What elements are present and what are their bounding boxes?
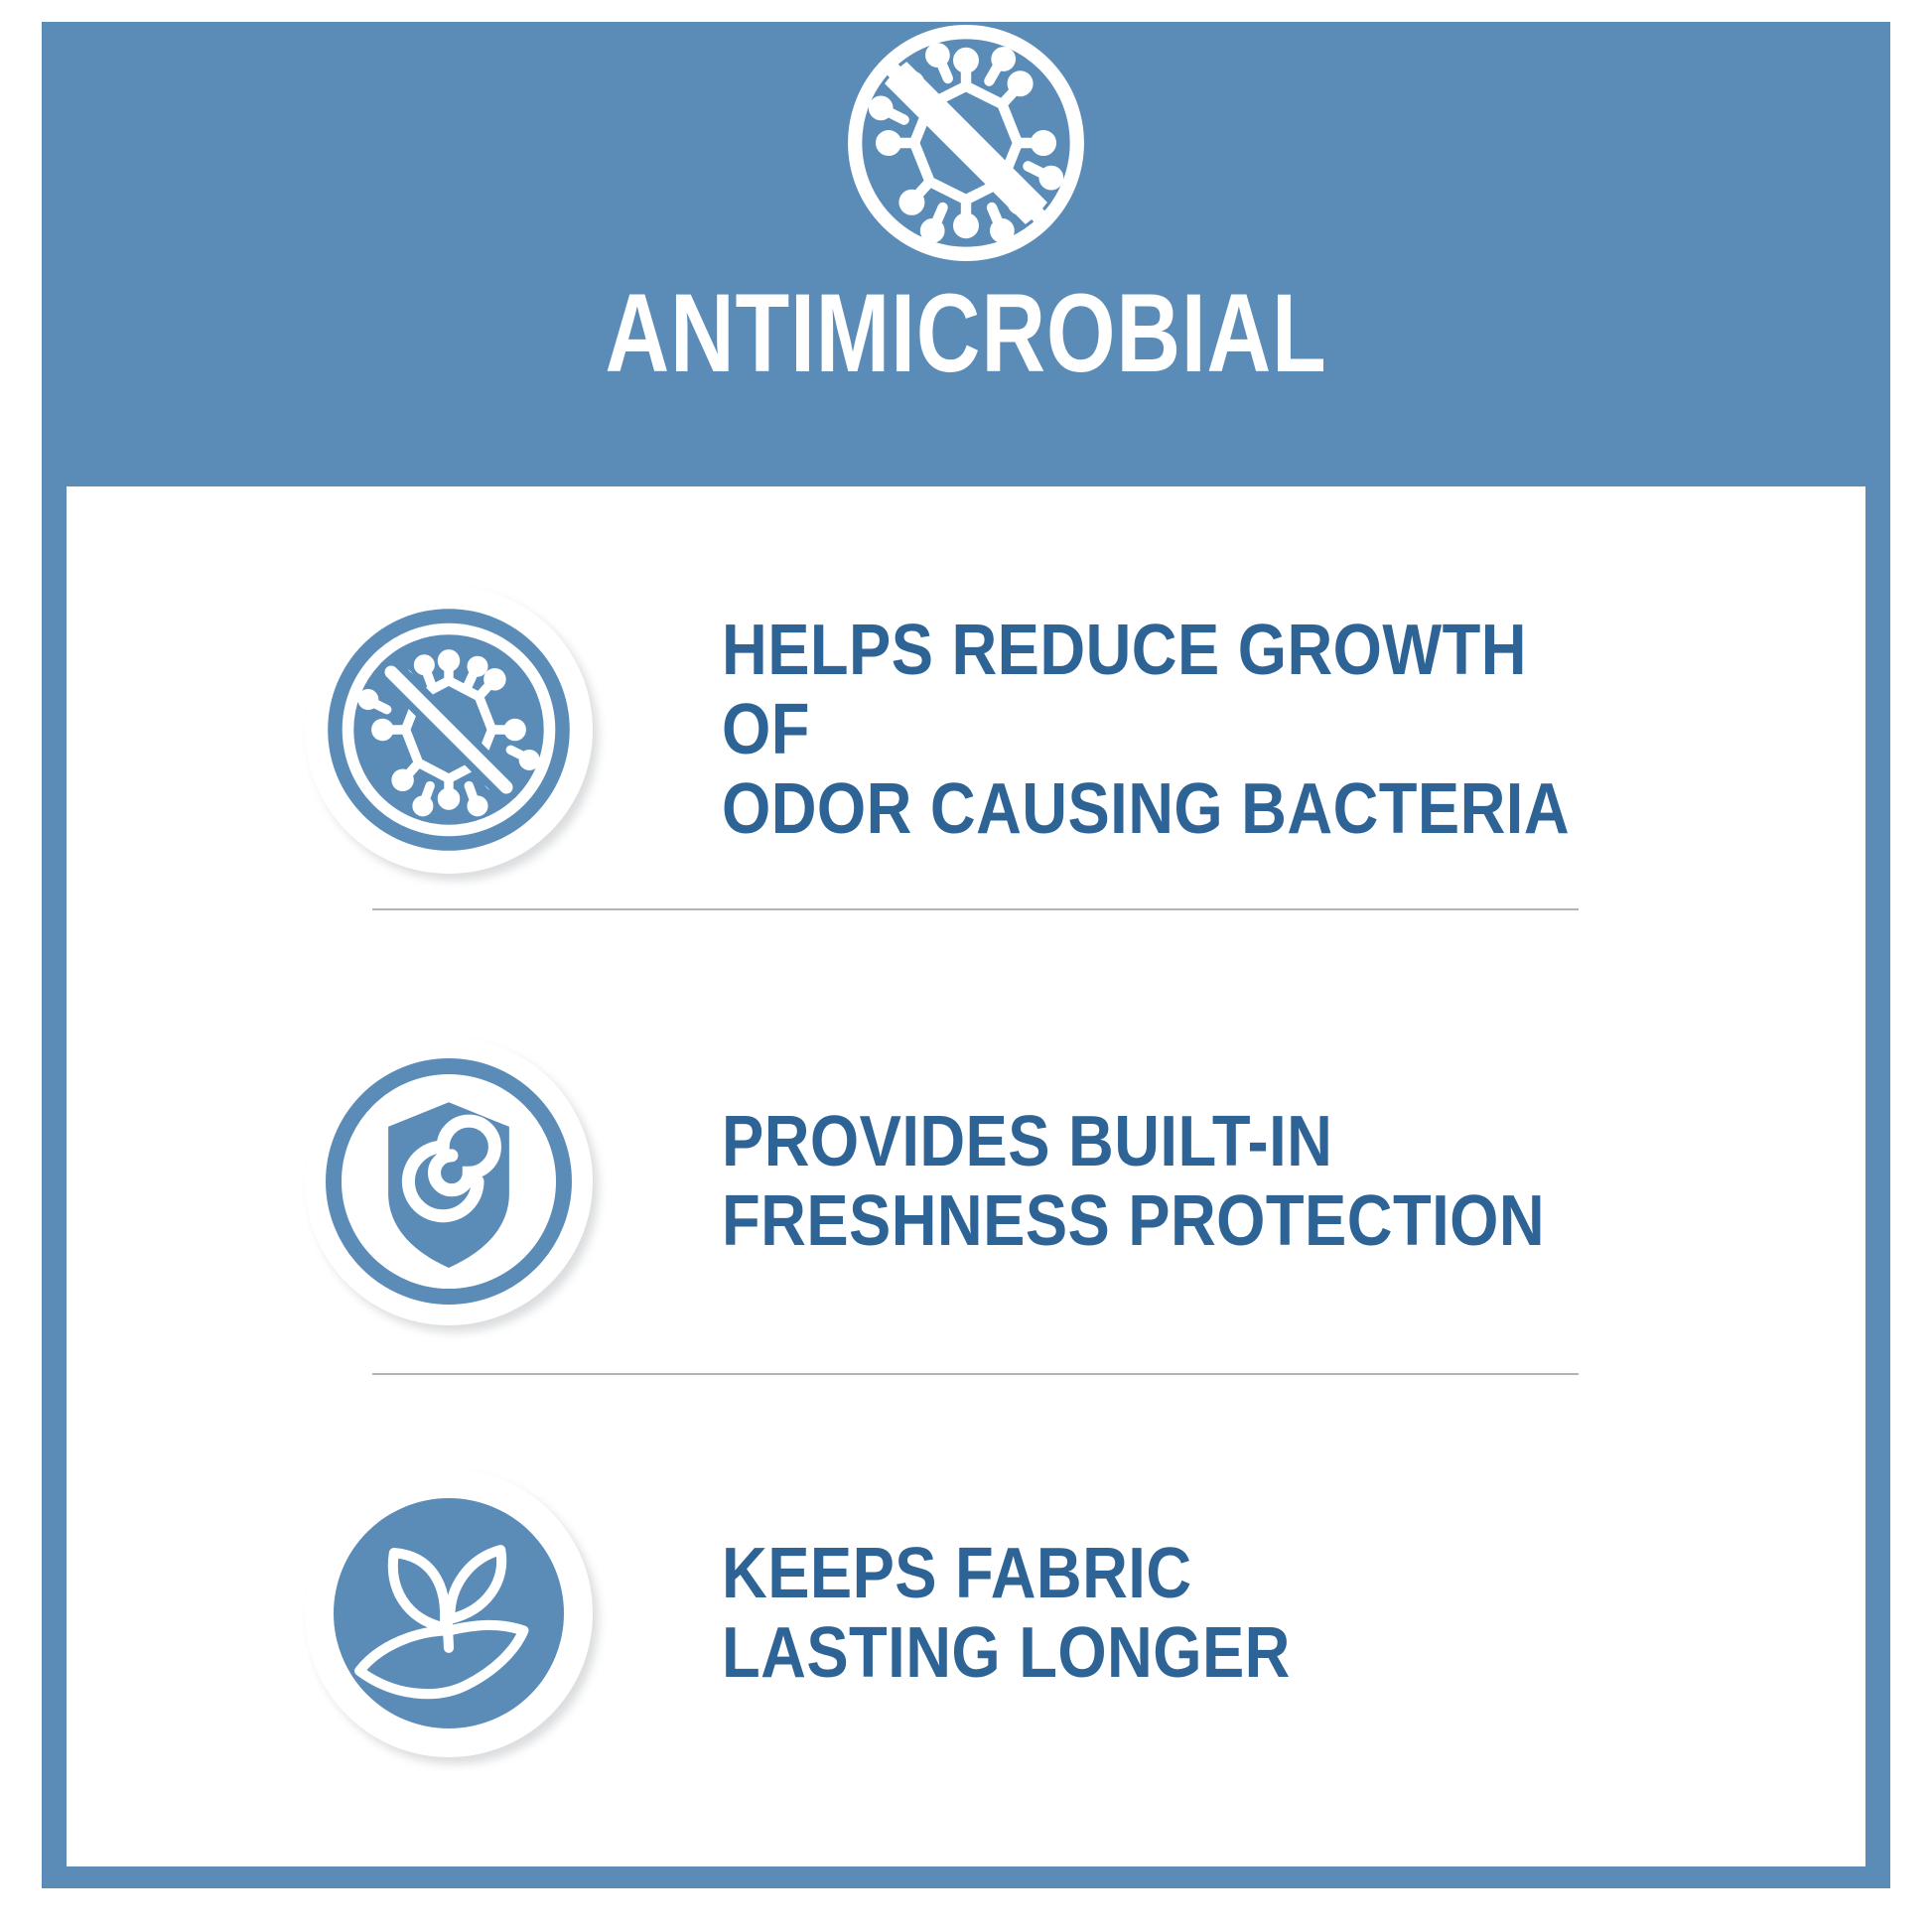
row-divider: [372, 1373, 1579, 1375]
virus-blocked-icon: [305, 586, 593, 874]
list-item-label: PROVIDES BUILT-IN FRESHNESS PROTECTION: [722, 1102, 1545, 1261]
virus-blocked-icon: [837, 14, 1095, 272]
page-title: ANTIMICROBIAL: [226, 278, 1706, 389]
list-item: KEEPS FABRIC LASTING LONGER: [305, 1415, 1715, 1812]
shield-spiral-icon: [305, 1037, 593, 1325]
list-item-label: KEEPS FABRIC LASTING LONGER: [722, 1534, 1291, 1693]
features-list: HELPS REDUCE GROWTH OF ODOR CAUSING BACT…: [67, 486, 1865, 1866]
list-item-label: HELPS REDUCE GROWTH OF ODOR CAUSING BACT…: [722, 611, 1595, 849]
list-item: PROVIDES BUILT-IN FRESHNESS PROTECTION: [305, 983, 1715, 1380]
leaf-sprout-icon: [305, 1469, 593, 1757]
row-divider: [372, 908, 1579, 910]
header-band: ANTIMICROBIAL: [42, 22, 1890, 486]
list-item: HELPS REDUCE GROWTH OF ODOR CAUSING BACT…: [305, 531, 1715, 928]
features-panel: HELPS REDUCE GROWTH OF ODOR CAUSING BACT…: [67, 486, 1865, 1866]
